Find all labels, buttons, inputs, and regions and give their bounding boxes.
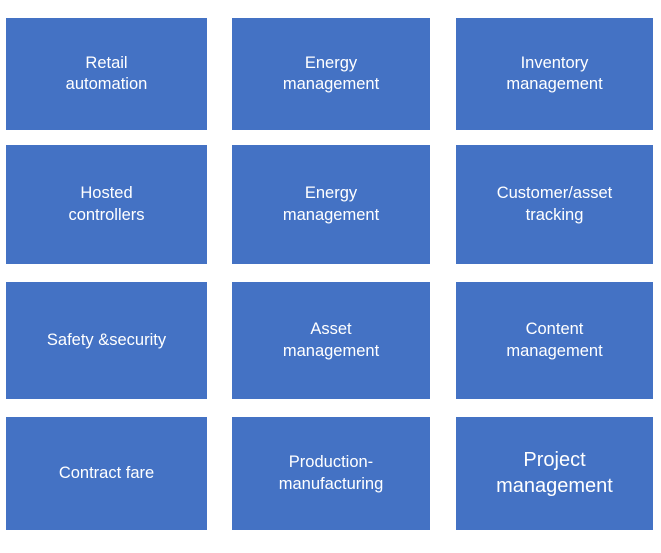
grid-box-energy-management-1[interactable]: Energy management <box>232 18 430 130</box>
grid-box-label: Hosted controllers <box>6 183 207 225</box>
grid-box-asset-management[interactable]: Asset management <box>232 282 430 399</box>
grid-box-content-management[interactable]: Content management <box>456 282 653 399</box>
grid-box-label: Energy management <box>232 53 430 95</box>
grid-box-label: Content management <box>456 319 653 361</box>
grid-box-label: Project management <box>456 448 653 499</box>
grid-box-label: Safety &security <box>6 330 207 351</box>
grid-box-retail-automation[interactable]: Retail automation <box>6 18 207 130</box>
grid-box-project-management[interactable]: Project management <box>456 417 653 530</box>
grid-box-label: Customer/asset tracking <box>456 183 653 225</box>
grid-box-safety-security[interactable]: Safety &security <box>6 282 207 399</box>
grid-box-label: Inventory management <box>456 53 653 95</box>
grid-box-label: Contract fare <box>6 463 207 484</box>
grid-box-customer-asset-tracking[interactable]: Customer/asset tracking <box>456 145 653 264</box>
grid-box-inventory-management[interactable]: Inventory management <box>456 18 653 130</box>
grid-box-production-manufacturing[interactable]: Production- manufacturing <box>232 417 430 530</box>
grid-box-label: Energy management <box>232 183 430 225</box>
grid-box-label: Retail automation <box>6 53 207 95</box>
grid-box-contract-fare[interactable]: Contract fare <box>6 417 207 530</box>
category-box-grid: Retail automation Energy management Inve… <box>0 0 661 553</box>
grid-box-hosted-controllers[interactable]: Hosted controllers <box>6 145 207 264</box>
grid-box-label: Production- manufacturing <box>232 452 430 494</box>
grid-box-label: Asset management <box>232 319 430 361</box>
grid-box-energy-management-2[interactable]: Energy management <box>232 145 430 264</box>
